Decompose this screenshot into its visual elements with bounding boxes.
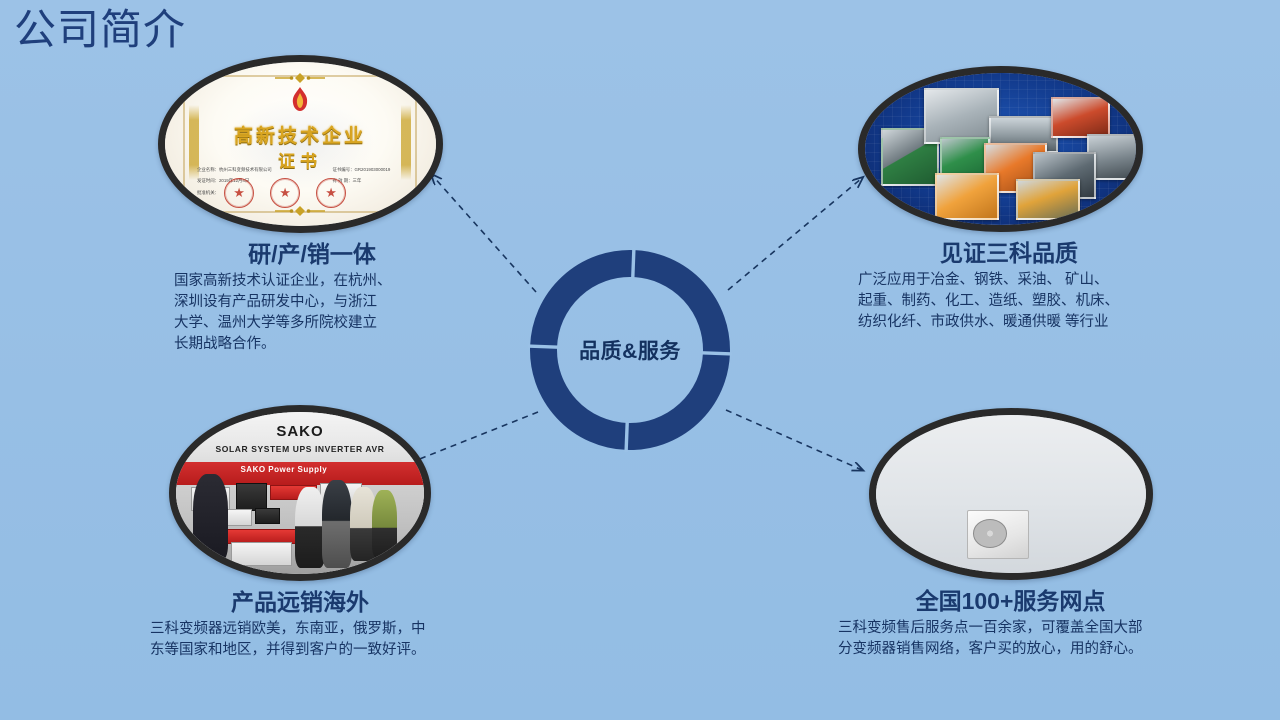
booth-brand-logo: SAKO bbox=[176, 423, 424, 440]
quadrant-top-left-text: 研/产/销一体 国家高新技术认证企业，在杭州、 深圳设有产品研发中心，与浙江 大… bbox=[150, 241, 450, 355]
slide-canvas: 公司简介 bbox=[0, 0, 1280, 720]
quadrant-bottom-left-title: 产品远销海外 bbox=[150, 589, 450, 617]
quadrant-top-right: 见证三科品质 广泛应用于冶金、钢铁、采油、 矿山、 起重、制药、化工、造纸、塑胶… bbox=[840, 66, 1160, 333]
industry-collage-image bbox=[858, 66, 1143, 232]
booth-visitor bbox=[295, 487, 325, 568]
body-line: 三科变频售后服务点一百余家，可覆盖全国大部 bbox=[838, 618, 1183, 639]
certificate-seal-icon: ★ bbox=[224, 178, 254, 208]
service-technicians-image bbox=[869, 408, 1153, 580]
body-line: 深圳设有产品研发中心，与浙江 bbox=[174, 292, 450, 313]
quadrant-bottom-right-title: 全国100+服务网点 bbox=[838, 588, 1183, 616]
quadrant-bottom-right-text: 全国100+服务网点 三科变频售后服务点一百余家，可覆盖全国大部 分变频器销售网… bbox=[838, 588, 1183, 660]
certificate-field-company: 企业名称：杭州三科变频技术有限公司 bbox=[197, 167, 272, 173]
quadrant-bottom-left-text: 产品远销海外 三科变频器远销欧美，东南亚，俄罗斯，中 东等国家和地区，并得到客户… bbox=[150, 589, 450, 661]
quadrant-bottom-left: SAKO SOLAR SYSTEM UPS INVERTER AVR SAKO … bbox=[150, 405, 450, 661]
booth-product-case bbox=[231, 542, 293, 567]
body-line: 国家高新技术认证企业，在杭州、 bbox=[174, 271, 450, 292]
industry-collage-art bbox=[865, 73, 1136, 225]
certificate-art: 高新技术企业 证书 企业名称：杭州三科变频技术有限公司 证书编号：GR20190… bbox=[165, 62, 436, 226]
quadrant-top-left: 高新技术企业 证书 企业名称：杭州三科变频技术有限公司 证书编号：GR20190… bbox=[150, 55, 450, 355]
body-line: 三科变频器远销欧美，东南亚，俄罗斯，中 bbox=[150, 619, 450, 640]
booth-product bbox=[255, 508, 279, 525]
center-ring-label: 品质&服务 bbox=[528, 248, 732, 452]
booth-visitor bbox=[322, 480, 352, 567]
certificate-seal-icon: ★ bbox=[270, 178, 300, 208]
certificate-seals: ★ ★ ★ bbox=[224, 178, 346, 208]
collage-photo bbox=[1051, 97, 1109, 137]
quadrant-bottom-right-body: 三科变频售后服务点一百余家，可覆盖全国大部 分变频器销售网络，客户买的放心，用的… bbox=[838, 618, 1183, 660]
body-line: 起重、制药、化工、造纸、塑胶、机床、 bbox=[858, 291, 1160, 312]
certificate-ornament-top bbox=[271, 72, 329, 83]
quadrant-top-left-body: 国家高新技术认证企业，在杭州、 深圳设有产品研发中心，与浙江 大学、温州大学等多… bbox=[174, 271, 450, 355]
quadrant-top-right-body: 广泛应用于冶金、钢铁、采油、 矿山、 起重、制药、化工、造纸、塑胶、机床、 纺织… bbox=[858, 270, 1160, 333]
body-line: 纺织化纤、市政供水、暖通供暖 等行业 bbox=[858, 312, 1160, 333]
body-line: 分变频器销售网络，客户买的放心，用的舒心。 bbox=[838, 639, 1183, 660]
certificate-seal-icon: ★ bbox=[316, 178, 346, 208]
booth-band-text: SAKO Power Supply bbox=[240, 465, 327, 474]
quadrant-bottom-left-body: 三科变频器远销欧美，东南亚，俄罗斯，中 东等国家和地区，并得到客户的一致好评。 bbox=[150, 619, 450, 661]
safety-glasses-icon bbox=[876, 415, 878, 417]
body-line: 长期战略合作。 bbox=[174, 334, 450, 355]
booth-tagline: SOLAR SYSTEM UPS INVERTER AVR bbox=[176, 444, 424, 454]
page-title: 公司简介 bbox=[14, 6, 186, 54]
certificate-main-title: 高新技术企业 bbox=[165, 121, 436, 148]
body-line: 大学、温州大学等多所院校建立 bbox=[174, 313, 450, 334]
collage-photo bbox=[924, 88, 998, 144]
quadrant-bottom-right: 全国100+服务网点 三科变频售后服务点一百余家，可覆盖全国大部 分变频器销售网… bbox=[838, 408, 1183, 660]
fan-grille-icon bbox=[973, 519, 1007, 548]
collage-photo bbox=[1016, 179, 1080, 219]
quadrant-top-right-text: 见证三科品质 广泛应用于冶金、钢铁、采油、 矿山、 起重、制药、化工、造纸、塑胶… bbox=[840, 240, 1160, 333]
quadrant-top-left-title: 研/产/销一体 bbox=[174, 241, 450, 269]
flame-emblem-icon bbox=[283, 85, 317, 119]
booth-visitor bbox=[193, 474, 228, 561]
trade-show-booth-art: SAKO SOLAR SYSTEM UPS INVERTER AVR SAKO … bbox=[176, 412, 424, 574]
booth-product bbox=[226, 509, 253, 526]
service-technicians-art bbox=[876, 415, 1146, 573]
booth-visitor bbox=[372, 490, 397, 558]
certificate-field-authority: 批准机关： bbox=[197, 190, 219, 196]
body-line: 东等国家和地区，并得到客户的一致好评。 bbox=[150, 640, 450, 661]
center-ring: 品质&服务 bbox=[528, 248, 732, 452]
quadrant-top-right-title: 见证三科品质 bbox=[858, 240, 1160, 268]
body-line: 广泛应用于冶金、钢铁、采油、 矿山、 bbox=[858, 270, 1160, 291]
certificate-field-number: 证书编号：GR201903000019 bbox=[333, 167, 391, 173]
collage-photo bbox=[935, 173, 999, 220]
trade-show-booth-image: SAKO SOLAR SYSTEM UPS INVERTER AVR SAKO … bbox=[169, 405, 431, 581]
certificate-image: 高新技术企业 证书 企业名称：杭州三科变频技术有限公司 证书编号：GR20190… bbox=[158, 55, 443, 233]
